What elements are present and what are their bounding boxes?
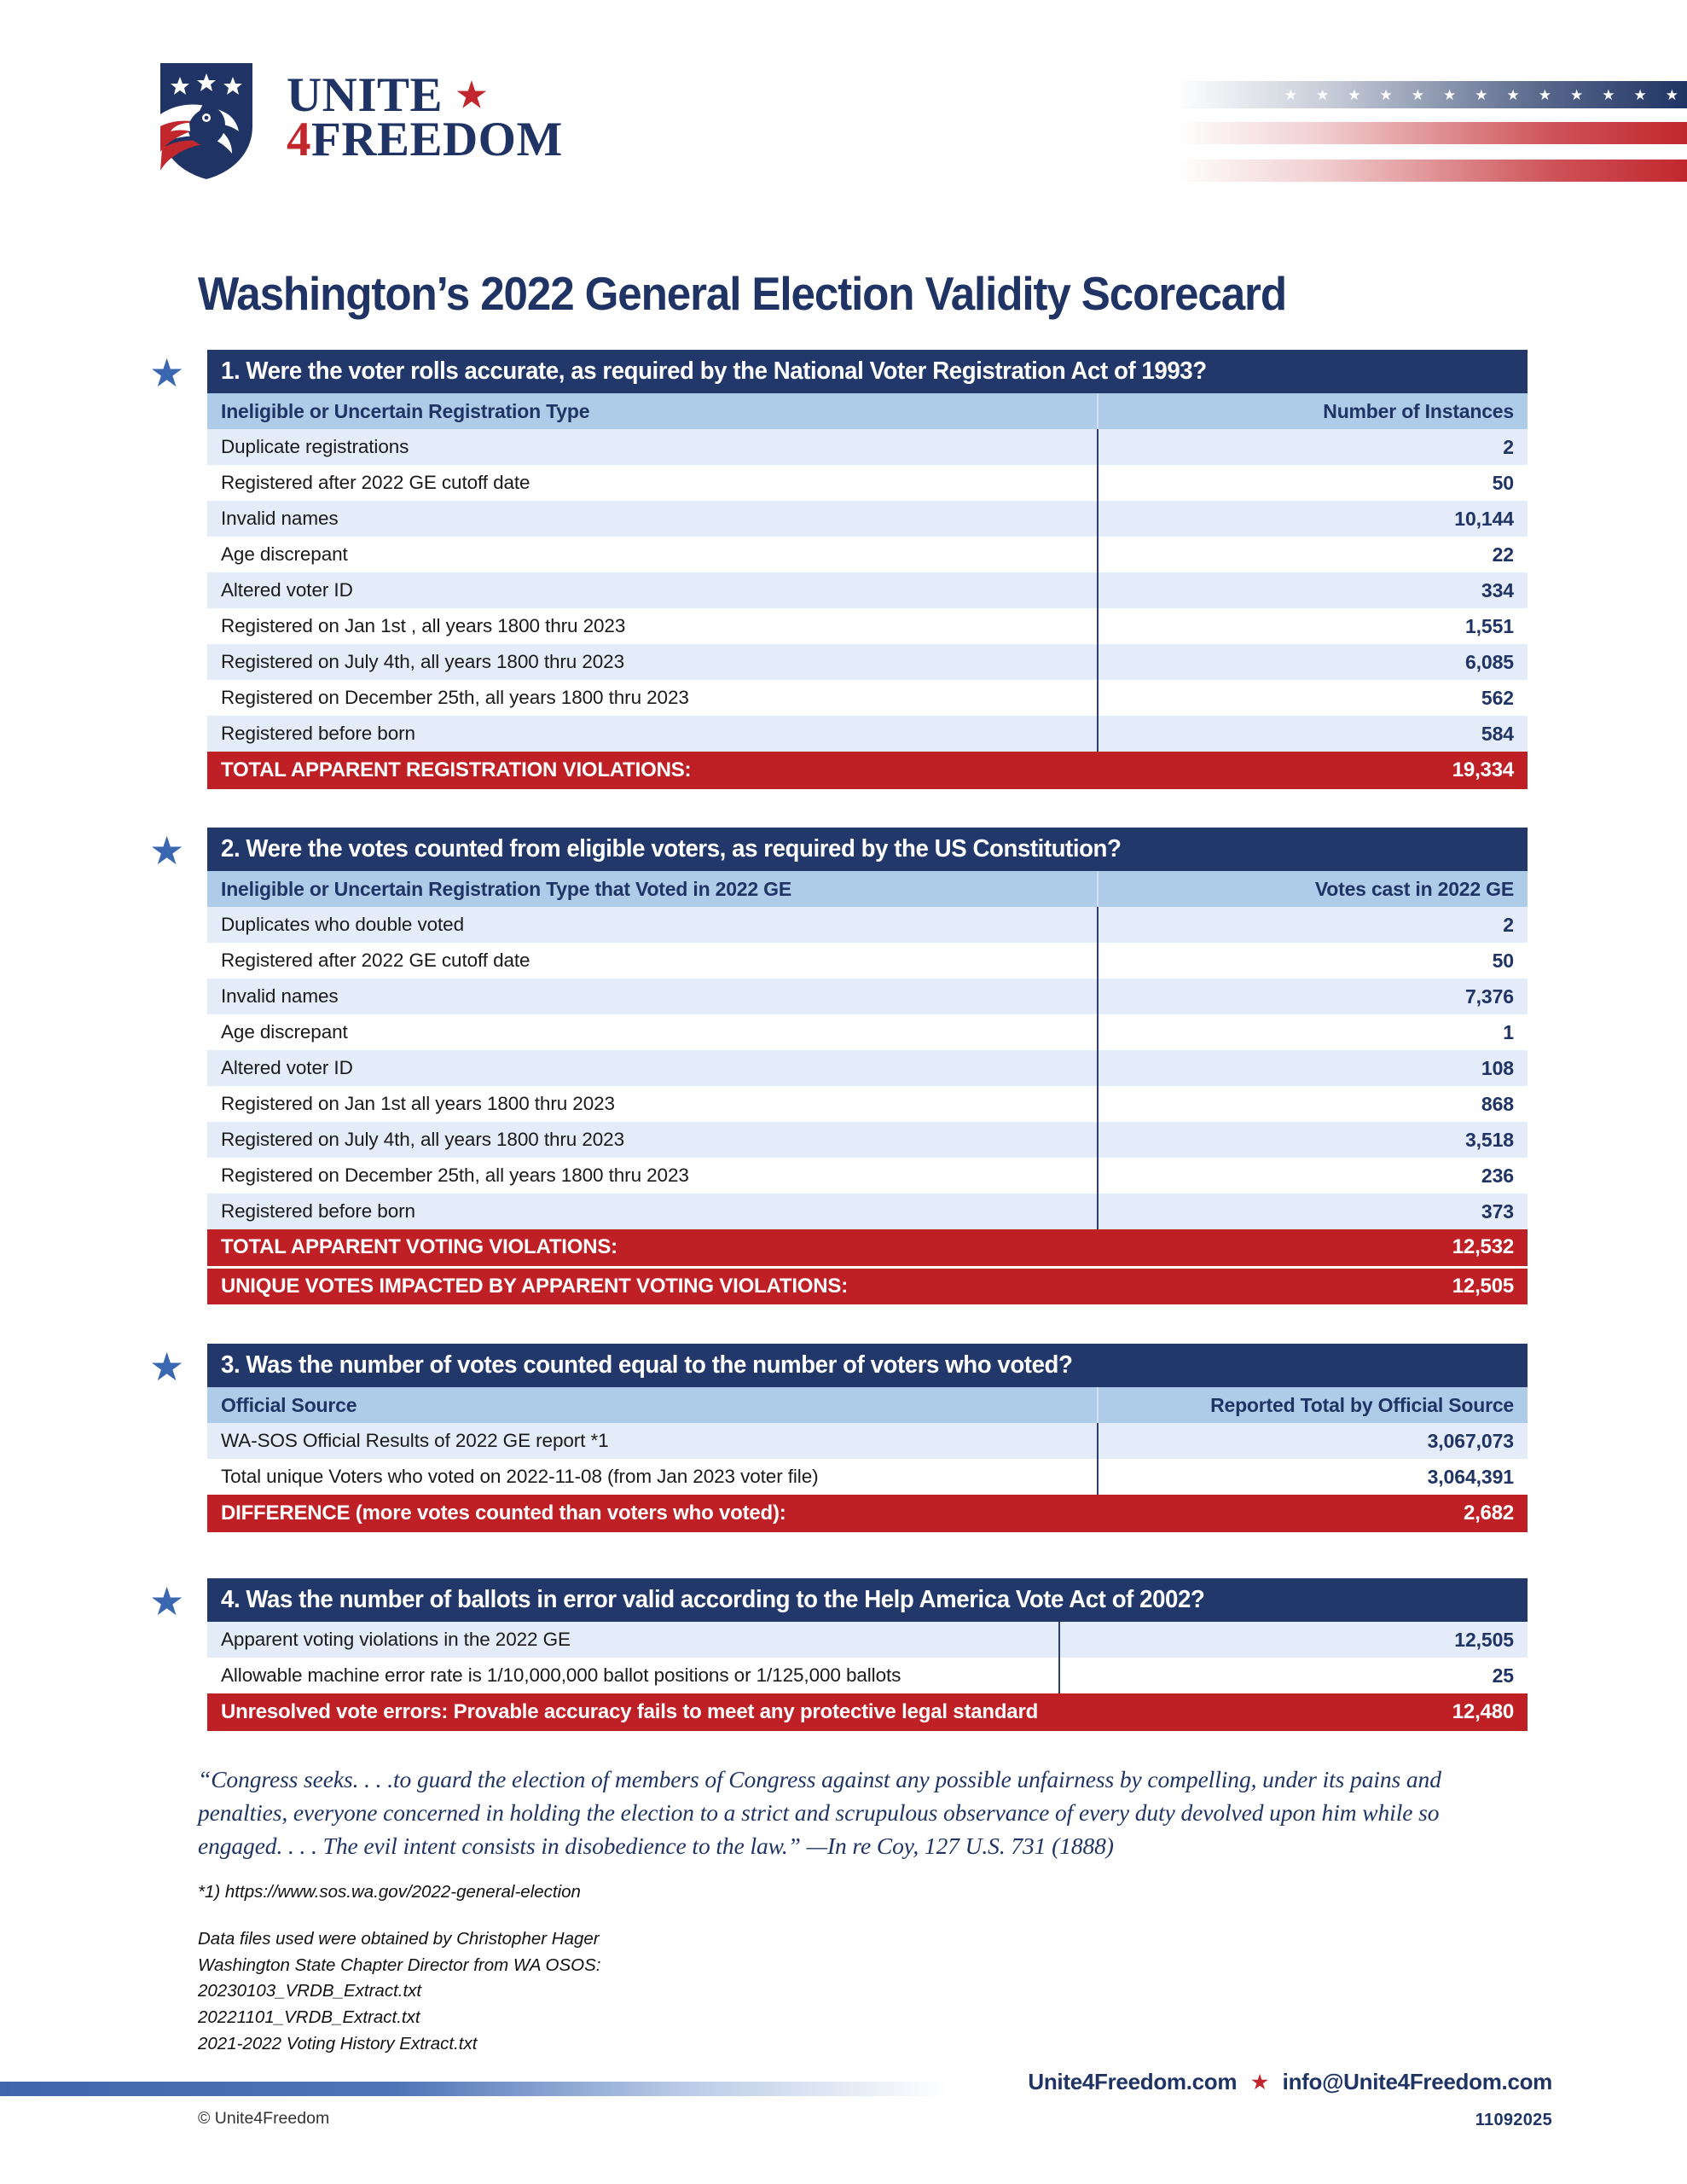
flag-star-icon: ★ [1475,88,1487,102]
table-row: Invalid names10,144 [207,501,1528,537]
flag-stripe-red-2 [1175,160,1687,182]
table-row: Registered after 2022 GE cutoff date50 [207,943,1528,979]
row-value: 562 [1098,680,1528,716]
section-4-table: Apparent voting violations in the 2022 G… [207,1622,1528,1731]
table-header-row: Ineligible or Uncertain Registration Typ… [207,393,1528,429]
row-label: Registered after 2022 GE cutoff date [207,465,1098,501]
row-label: Registered after 2022 GE cutoff date [207,943,1098,979]
row-label: Registered on July 4th, all years 1800 t… [207,1122,1098,1158]
flag-star-icon: ★ [1284,88,1297,102]
section-star-icon: ★ [149,831,184,870]
table-header-row: Ineligible or Uncertain Registration Typ… [207,871,1528,907]
flag-star-icon: ★ [1602,88,1615,102]
table-row: Registered on December 25th, all years 1… [207,1158,1528,1194]
table-row: Registered before born584 [207,716,1528,752]
row-label: Registered before born [207,716,1098,752]
section-2: ★ 2. Were the votes counted from eligibl… [207,828,1528,1304]
column-header-reported-total: Reported Total by Official Source [1098,1387,1528,1423]
row-value: 108 [1098,1050,1528,1086]
row-value: 6,085 [1098,644,1528,680]
total-row: Unresolved vote errors: Provable accurac… [207,1693,1528,1731]
row-label: Age discrepant [207,1014,1098,1050]
brand-star-icon: ★ [456,78,487,113]
footer-date-code: 11092025 [1475,2111,1552,2130]
row-value: 868 [1098,1086,1528,1122]
row-label: Registered on Jan 1st , all years 1800 t… [207,608,1098,644]
table-row: Registered on July 4th, all years 1800 t… [207,1122,1528,1158]
page-title: Washington’s 2022 General Election Valid… [198,266,1286,321]
total-value: 19,334 [1098,752,1528,789]
table-row: Altered voter ID334 [207,572,1528,608]
footnotes-block: *1) https://www.sos.wa.gov/2022-general-… [198,1879,600,2058]
footer-contact: Unite4Freedom.com ★ info@Unite4Freedom.c… [1028,2069,1552,2095]
section-4: ★ 4. Was the number of ballots in error … [207,1578,1528,1731]
table-row: Allowable machine error rate is 1/10,000… [207,1658,1528,1693]
footnote-source-line-2: Washington State Chapter Director from W… [198,1953,600,1979]
total-label: DIFFERENCE (more votes counted than vote… [207,1495,1098,1532]
total-value: 12,480 [1059,1693,1528,1731]
total-value: 2,682 [1098,1495,1528,1532]
footer-website-link[interactable]: Unite4Freedom.com [1028,2069,1237,2095]
row-value: 50 [1098,943,1528,979]
flag-star-icon: ★ [1666,88,1678,102]
row-value: 1,551 [1098,608,1528,644]
row-label: Apparent voting violations in the 2022 G… [207,1622,1059,1658]
section-4-heading: 4. Was the number of ballots in error va… [207,1578,1528,1622]
flag-star-icon: ★ [1380,88,1393,102]
table-row: Total unique Voters who voted on 2022-11… [207,1459,1528,1495]
row-label: Registered on December 25th, all years 1… [207,1158,1098,1194]
row-label: Invalid names [207,501,1098,537]
total-value: 12,505 [1098,1267,1528,1304]
section-1: ★ 1. Were the voter rolls accurate, as r… [207,350,1528,789]
section-star-icon: ★ [149,1347,184,1386]
section-2-heading: 2. Were the votes counted from eligible … [207,828,1528,871]
row-label: Registered on December 25th, all years 1… [207,680,1098,716]
footnote-file-1: 20230103_VRDB_Extract.txt [198,1978,600,2005]
flag-star-icon: ★ [1348,88,1360,102]
row-value: 3,067,073 [1098,1423,1528,1459]
row-label: Duplicate registrations [207,429,1098,465]
row-label: Allowable machine error rate is 1/10,000… [207,1658,1059,1693]
flag-star-icon: ★ [1507,88,1520,102]
table-row: WA-SOS Official Results of 2022 GE repor… [207,1423,1528,1459]
total-row: TOTAL APPARENT VOTING VIOLATIONS:12,532 [207,1229,1528,1267]
flag-star-band: ★ ★ ★ ★ ★ ★ ★ ★ ★ ★ ★ ★ ★ [1175,81,1687,108]
brand-wordmark: UNITE ★ 4FREEDOM [287,73,563,163]
table-row: Registered on July 4th, all years 1800 t… [207,644,1528,680]
row-value: 50 [1098,465,1528,501]
footnote-reference-1: *1) https://www.sos.wa.gov/2022-general-… [198,1879,600,1906]
scorecard-page: UNITE ★ 4FREEDOM ★ ★ ★ ★ ★ ★ ★ ★ ★ ★ ★ [0,0,1687,2184]
total-label: Unresolved vote errors: Provable accurac… [207,1693,1059,1731]
brand-numeral-four: 4 [287,113,311,166]
table-row: Age discrepant1 [207,1014,1528,1050]
row-value: 584 [1098,716,1528,752]
table-header-row: Official Source Reported Total by Offici… [207,1387,1528,1423]
table-row: Duplicate registrations2 [207,429,1528,465]
total-row: DIFFERENCE (more votes counted than vote… [207,1495,1528,1532]
column-header-count: Number of Instances [1098,393,1528,429]
eagle-shield-logo-icon [143,53,270,183]
section-1-table: Ineligible or Uncertain Registration Typ… [207,393,1528,789]
page-header: UNITE ★ 4FREEDOM ★ ★ ★ ★ ★ ★ ★ ★ ★ ★ ★ [0,0,1687,218]
flag-star-icon: ★ [1412,88,1424,102]
row-value: 2 [1098,907,1528,943]
flag-star-icon: ★ [1570,88,1583,102]
total-label: TOTAL APPARENT VOTING VIOLATIONS: [207,1229,1098,1267]
row-label: WA-SOS Official Results of 2022 GE repor… [207,1423,1098,1459]
row-label: Registered on Jan 1st all years 1800 thr… [207,1086,1098,1122]
flag-stripe-red-1 [1175,122,1687,144]
row-value: 373 [1098,1194,1528,1229]
row-label: Altered voter ID [207,572,1098,608]
table-row: Registered on December 25th, all years 1… [207,680,1528,716]
row-value: 3,064,391 [1098,1459,1528,1495]
footnote-file-2: 20221101_VRDB_Extract.txt [198,2005,600,2031]
flag-star-icon: ★ [1634,88,1647,102]
brand-logo: UNITE ★ 4FREEDOM [143,53,563,183]
footer-star-icon: ★ [1251,2071,1267,2094]
footer-email-link[interactable]: info@Unite4Freedom.com [1283,2069,1552,2095]
legal-quote: “Congress seeks. . . .to guard the elect… [198,1763,1511,1862]
table-row: Registered after 2022 GE cutoff date50 [207,465,1528,501]
row-label: Invalid names [207,979,1098,1014]
row-value: 10,144 [1098,501,1528,537]
total-label: TOTAL APPARENT REGISTRATION VIOLATIONS: [207,752,1098,789]
column-header-type: Ineligible or Uncertain Registration Typ… [207,871,1098,907]
footnote-spacer [198,1906,600,1926]
total-label: UNIQUE VOTES IMPACTED BY APPARENT VOTING… [207,1267,1098,1304]
total-row: TOTAL APPARENT REGISTRATION VIOLATIONS:1… [207,752,1528,789]
flag-star-icon: ★ [1539,88,1551,102]
row-label: Age discrepant [207,537,1098,572]
row-label: Altered voter ID [207,1050,1098,1086]
brand-line1: UNITE [287,73,443,118]
flag-decoration: ★ ★ ★ ★ ★ ★ ★ ★ ★ ★ ★ ★ ★ [1175,81,1687,175]
row-value: 2 [1098,429,1528,465]
table-row: Invalid names7,376 [207,979,1528,1014]
row-value: 1 [1098,1014,1528,1050]
table-row: Registered on Jan 1st all years 1800 thr… [207,1086,1528,1122]
section-1-heading: 1. Were the voter rolls accurate, as req… [207,350,1528,393]
footer-copyright: © Unite4Freedom [198,2109,329,2129]
footer-gradient-bar [0,2082,948,2096]
section-star-icon: ★ [149,353,184,392]
row-label: Registered before born [207,1194,1098,1229]
row-value: 7,376 [1098,979,1528,1014]
row-value: 334 [1098,572,1528,608]
column-header-type: Ineligible or Uncertain Registration Typ… [207,393,1098,429]
row-value: 22 [1098,537,1528,572]
section-3: ★ 3. Was the number of votes counted equ… [207,1344,1528,1532]
row-label: Total unique Voters who voted on 2022-11… [207,1459,1098,1495]
total-value: 12,532 [1098,1229,1528,1267]
footnote-source-line-1: Data files used were obtained by Christo… [198,1926,600,1953]
total-row: UNIQUE VOTES IMPACTED BY APPARENT VOTING… [207,1267,1528,1304]
section-3-table: Official Source Reported Total by Offici… [207,1387,1528,1532]
section-2-table: Ineligible or Uncertain Registration Typ… [207,871,1528,1304]
row-value: 236 [1098,1158,1528,1194]
column-header-source: Official Source [207,1387,1098,1423]
section-star-icon: ★ [149,1582,184,1621]
row-label: Registered on July 4th, all years 1800 t… [207,644,1098,680]
brand-line2: FREEDOM [311,113,563,166]
table-row: Registered before born373 [207,1194,1528,1229]
row-label: Duplicates who double voted [207,907,1098,943]
column-header-votes: Votes cast in 2022 GE [1098,871,1528,907]
row-value: 12,505 [1059,1622,1528,1658]
table-row: Apparent voting violations in the 2022 G… [207,1622,1528,1658]
flag-star-icon: ★ [1443,88,1456,102]
row-value: 3,518 [1098,1122,1528,1158]
flag-star-icon: ★ [1316,88,1329,102]
table-row: Duplicates who double voted2 [207,907,1528,943]
table-row: Altered voter ID108 [207,1050,1528,1086]
table-row: Age discrepant22 [207,537,1528,572]
table-row: Registered on Jan 1st , all years 1800 t… [207,608,1528,644]
row-value: 25 [1059,1658,1528,1693]
footnote-file-3: 2021-2022 Voting History Extract.txt [198,2031,600,2058]
section-3-heading: 3. Was the number of votes counted equal… [207,1344,1528,1387]
